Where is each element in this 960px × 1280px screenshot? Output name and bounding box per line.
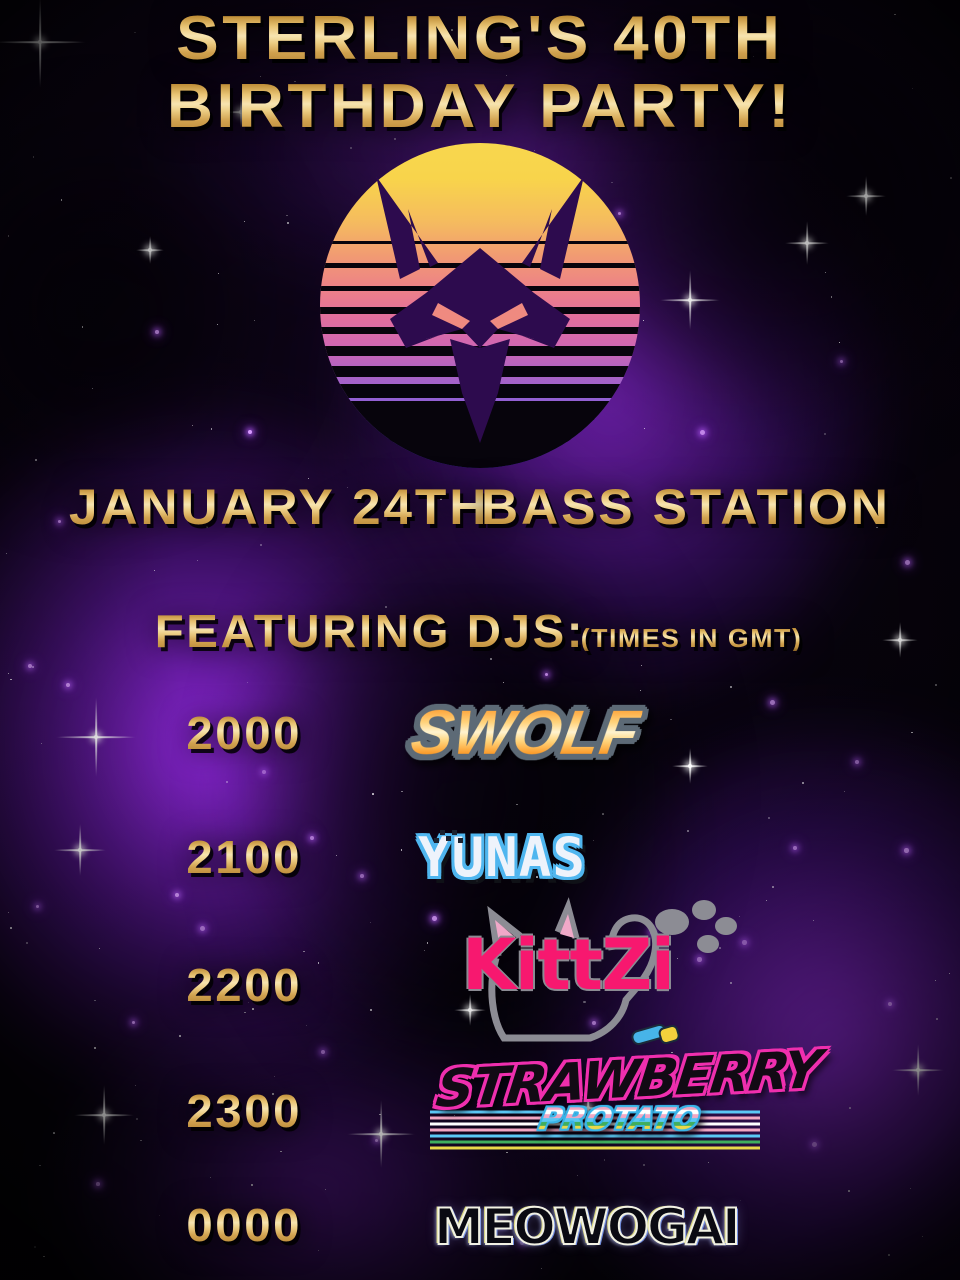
star <box>251 1184 253 1186</box>
star <box>43 1256 44 1257</box>
star <box>644 428 645 429</box>
star <box>740 1200 741 1201</box>
page-title: STERLING'S 40TH BIRTHDAY PARTY! <box>0 8 960 138</box>
star <box>541 1268 542 1269</box>
star <box>936 1018 938 1020</box>
event-date: JANUARY 24TH <box>69 482 489 532</box>
featuring-heading-block: FEATURING DJS: (TIMES IN GMT) <box>0 608 960 654</box>
star <box>35 459 37 461</box>
star <box>94 1047 96 1049</box>
synthwave-sun-cat-logo <box>320 143 640 468</box>
star-glow <box>155 330 159 334</box>
star-glow <box>742 940 747 945</box>
star <box>935 980 936 981</box>
star <box>372 793 374 795</box>
star <box>848 1190 850 1192</box>
star <box>824 433 826 435</box>
set-time: 0000 <box>186 1202 302 1248</box>
star <box>287 222 289 224</box>
star <box>26 942 28 944</box>
star <box>34 1246 36 1248</box>
star-glow <box>432 916 437 921</box>
star <box>950 177 952 179</box>
party-flyer: STERLING'S 40TH BIRTHDAY PARTY! <box>0 0 960 1280</box>
title-line-1: STERLING'S 40TH <box>176 8 783 70</box>
date-venue-block: JANUARY 24TH BASS STATION <box>0 478 960 532</box>
star-glow <box>248 430 252 434</box>
star <box>318 962 320 964</box>
star <box>10 927 12 929</box>
title-line-2: BIRTHDAY PARTY! <box>167 76 793 138</box>
star <box>831 296 832 297</box>
timezone-note: (TIMES IN GMT) <box>580 625 801 651</box>
star <box>303 951 305 953</box>
star <box>670 719 671 720</box>
star <box>772 886 774 888</box>
event-venue: BASS STATION <box>481 482 891 532</box>
star <box>849 1107 851 1109</box>
star <box>577 1175 578 1176</box>
artist-logo-kittzi: KittZi <box>462 924 674 1006</box>
star-glow <box>96 1182 100 1186</box>
set-time: 2200 <box>186 962 302 1008</box>
star <box>260 544 262 546</box>
star <box>370 922 371 923</box>
set-time: 2100 <box>186 834 302 880</box>
pixel-sparkle-icon <box>432 828 476 860</box>
set-time: 2300 <box>186 1088 302 1134</box>
cat-head-icon <box>320 143 640 468</box>
star-glow <box>770 700 775 705</box>
featuring-heading: FEATURING DJS: <box>155 608 585 654</box>
star-glow <box>793 846 797 850</box>
star <box>210 1177 211 1178</box>
star <box>94 1000 95 1001</box>
star <box>839 342 840 343</box>
star <box>217 324 218 325</box>
star <box>10 679 12 681</box>
star-glow <box>904 848 909 853</box>
star <box>226 781 228 783</box>
artist-logo-swolf: SWOLF <box>406 698 644 769</box>
set-time: 2000 <box>186 710 302 756</box>
star <box>602 813 604 815</box>
artist-logo-meowogai: MEOWOGAI <box>434 1198 738 1256</box>
star <box>949 973 950 974</box>
star <box>325 1189 326 1190</box>
artist-logo-protato: PROTATO <box>536 1102 703 1137</box>
star <box>766 900 767 901</box>
star <box>61 199 62 200</box>
star-glow <box>360 874 364 878</box>
